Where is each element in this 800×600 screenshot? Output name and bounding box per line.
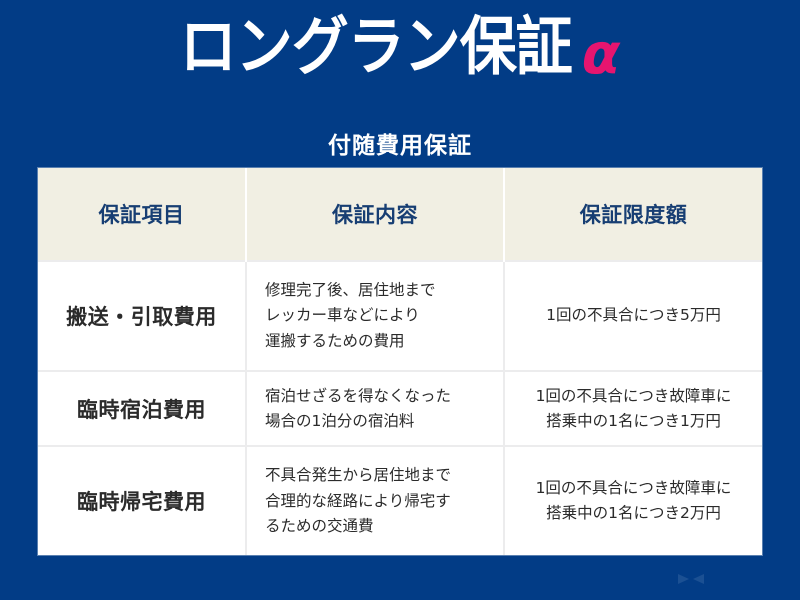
limit-line: 1回の不具合につき故障車に [515, 384, 752, 409]
table-row: 搬送・引取費用 修理完了後、居住地まで レッカー車などにより 運搬するための費用… [38, 261, 762, 371]
detail-line: 合理的な経路により帰宅す [265, 489, 493, 514]
detail-line: 宿泊せざるを得なくなった [265, 384, 493, 409]
column-header-detail: 保証内容 [246, 168, 504, 261]
cell-limit: 1回の不具合につき故障車に 搭乗中の1名につき2万円 [504, 446, 762, 555]
table-header-row: 保証項目 保証内容 保証限度額 [38, 168, 762, 261]
cell-item: 搬送・引取費用 [38, 261, 246, 371]
limit-line: 搭乗中の1名につき2万円 [515, 501, 752, 526]
column-header-item: 保証項目 [38, 168, 246, 261]
cell-limit: 1回の不具合につき5万円 [504, 261, 762, 371]
detail-line: 不具合発生から居住地まで [265, 463, 493, 488]
page-title-main: ロングラン保証 [180, 15, 572, 82]
detail-line: 運搬するための費用 [265, 329, 493, 354]
detail-line: 修理完了後、居住地まで [265, 278, 493, 303]
page-title: ロングラン保証α [0, 22, 800, 82]
limit-line: 1回の不具合につき5万円 [515, 303, 752, 328]
cell-item: 臨時帰宅費用 [38, 446, 246, 555]
table-row: 臨時宿泊費用 宿泊せざるを得なくなった 場合の1泊分の宿泊料 1回の不具合につき… [38, 371, 762, 446]
cell-item: 臨時宿泊費用 [38, 371, 246, 446]
column-header-limit: 保証限度額 [504, 168, 762, 261]
cell-detail: 不具合発生から居住地まで 合理的な経路により帰宅す るための交通費 [246, 446, 504, 555]
detail-line: レッカー車などにより [265, 303, 493, 328]
cell-limit: 1回の不具合につき故障車に 搭乗中の1名につき1万円 [504, 371, 762, 446]
coverage-table: 保証項目 保証内容 保証限度額 搬送・引取費用 修理完了後、居住地まで レッカー… [38, 168, 762, 555]
cell-detail: 宿泊せざるを得なくなった 場合の1泊分の宿泊料 [246, 371, 504, 446]
limit-line: 1回の不具合につき故障車に [515, 476, 752, 501]
cell-detail: 修理完了後、居住地まで レッカー車などにより 運搬するための費用 [246, 261, 504, 371]
page-subtitle: 付随費用保証 [0, 126, 800, 160]
watermark [678, 571, 712, 590]
detail-line: 場合の1泊分の宿泊料 [265, 409, 493, 434]
limit-line: 搭乗中の1名につき1万円 [515, 409, 752, 434]
page-title-alpha: α [582, 26, 620, 85]
detail-line: るための交通費 [265, 514, 493, 539]
table-row: 臨時帰宅費用 不具合発生から居住地まで 合理的な経路により帰宅す るための交通費… [38, 446, 762, 555]
bowtie-logo-icon [678, 571, 704, 590]
